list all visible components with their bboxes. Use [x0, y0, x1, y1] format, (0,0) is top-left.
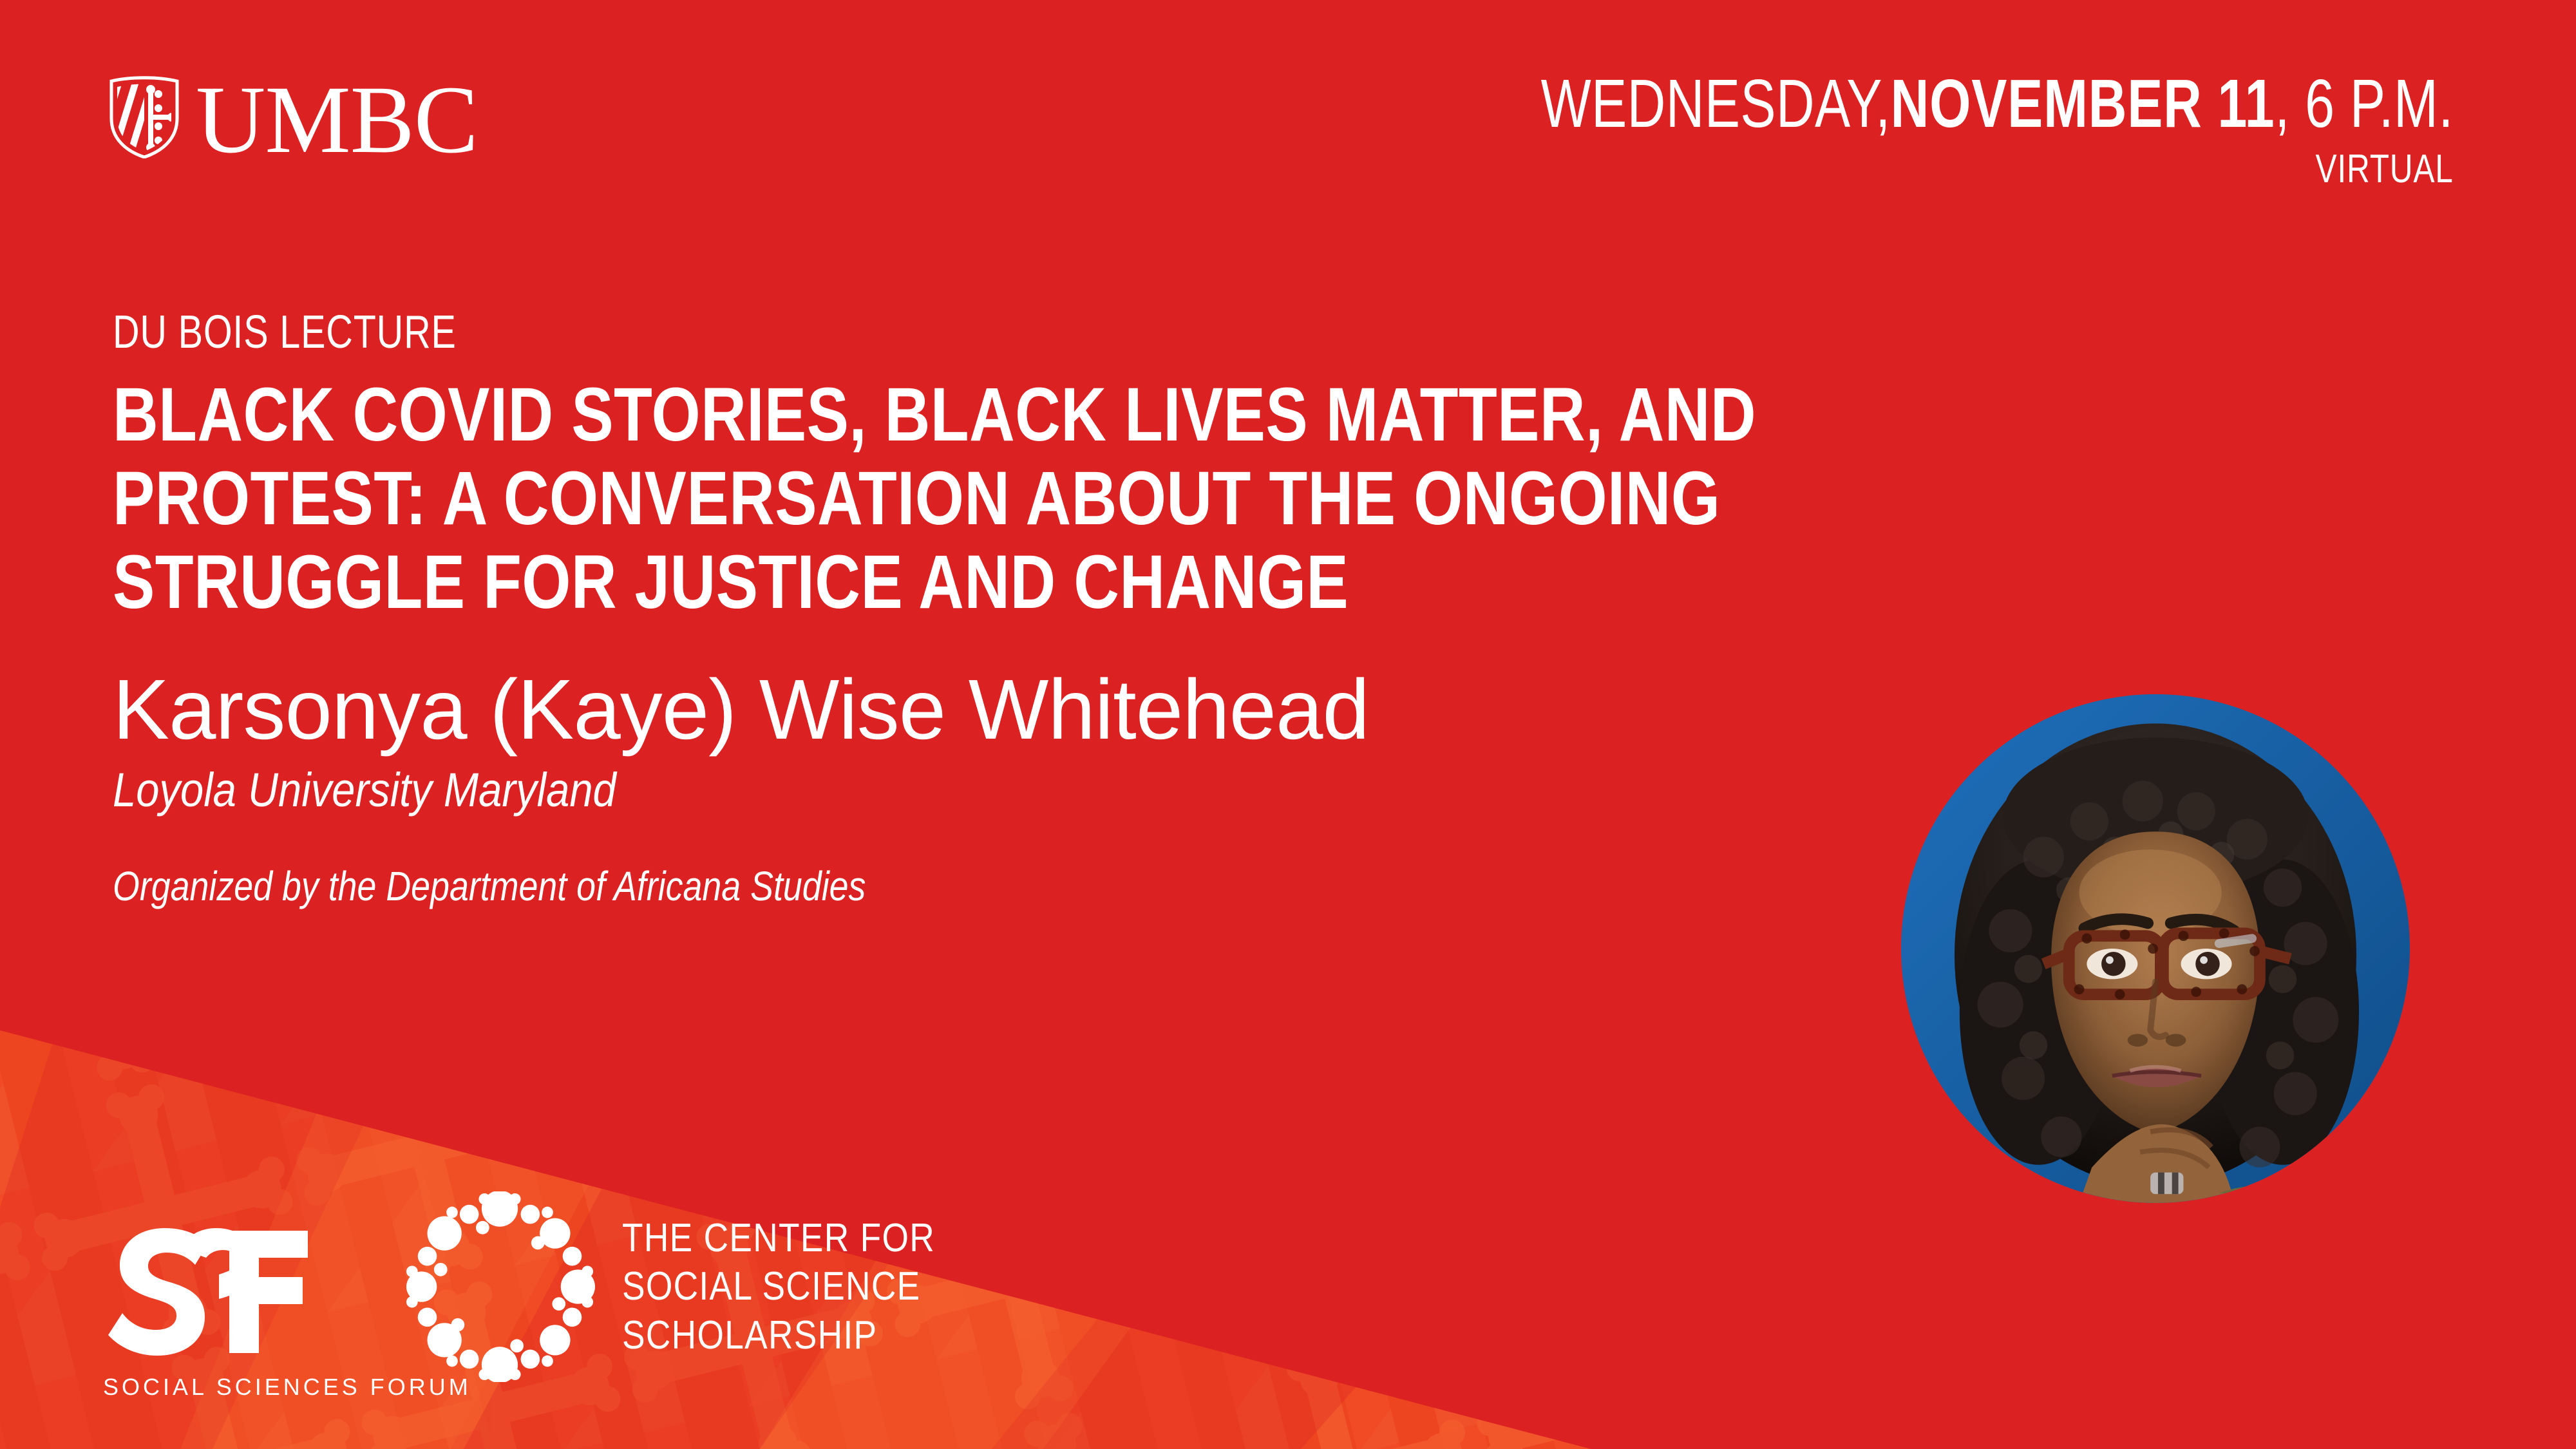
- social-sciences-forum-logo: SOCIAL SCIENCES FORUM: [103, 1222, 335, 1399]
- dot-ring-icon: [404, 1191, 595, 1382]
- center-line-3: SCHOLARSHIP: [622, 1311, 935, 1360]
- umbc-wordmark: UMBC: [196, 79, 478, 160]
- center-logo-text: THE CENTER FOR SOCIAL SCIENCE SCHOLARSHI…: [622, 1214, 935, 1360]
- speaker-affiliation: Loyola University Maryland: [113, 764, 1813, 816]
- page-title: BLACK COVID STORIES, BLACK LIVES MATTER,…: [113, 374, 2358, 624]
- lecture-series-label: DU BOIS LECTURE: [113, 309, 1658, 355]
- ssf-monogram-icon: [103, 1222, 316, 1360]
- speaker-name: Karsonya (Kaye) Wise Whitehead: [113, 667, 2045, 753]
- event-date-block: WEDNESDAY,NOVEMBER 11, 6 P.M. VIRTUAL: [1283, 70, 2454, 189]
- poster-header: UMBC WEDNESDAY,NOVEMBER 11, 6 P.M. VIRTU…: [0, 0, 2576, 232]
- center-for-social-science-scholarship-logo: THE CENTER FOR SOCIAL SCIENCE SCHOLARSHI…: [404, 1191, 986, 1382]
- center-line-2: SOCIAL SCIENCE: [622, 1262, 935, 1311]
- organizer-credit: Organized by the Department of Africana …: [113, 864, 1736, 909]
- poster-footer: SOCIAL SCIENCES FORUM: [0, 1153, 1546, 1449]
- title-line-2: PROTEST: A CONVERSATION ABOUT THE ONGOIN…: [113, 457, 2358, 541]
- poster-body: DU BOIS LECTURE BLACK COVID STORIES, BLA…: [113, 309, 2045, 909]
- speaker-portrait-image: [1901, 694, 2410, 1203]
- event-date-line: WEDNESDAY,NOVEMBER 11, 6 P.M.: [1541, 70, 2454, 138]
- title-line-1: BLACK COVID STORIES, BLACK LIVES MATTER,…: [113, 374, 2358, 457]
- center-line-1: THE CENTER FOR: [622, 1214, 935, 1263]
- umbc-logo: UMBC: [108, 76, 478, 158]
- ssf-caption: SOCIAL SCIENCES FORUM: [103, 1376, 335, 1399]
- maryland-flag-shield-icon: [108, 76, 180, 158]
- event-poster: UMBC WEDNESDAY,NOVEMBER 11, 6 P.M. VIRTU…: [0, 0, 2576, 1449]
- event-time: , 6 P.M.: [2275, 66, 2454, 142]
- speaker-portrait: [1901, 694, 2410, 1203]
- event-month-day: NOVEMBER 11: [1891, 66, 2275, 142]
- event-format-label: VIRTUAL: [1518, 149, 2454, 189]
- event-weekday: WEDNESDAY,: [1541, 66, 1891, 142]
- title-line-3: STRUGGLE FOR JUSTICE AND CHANGE: [113, 541, 2358, 625]
